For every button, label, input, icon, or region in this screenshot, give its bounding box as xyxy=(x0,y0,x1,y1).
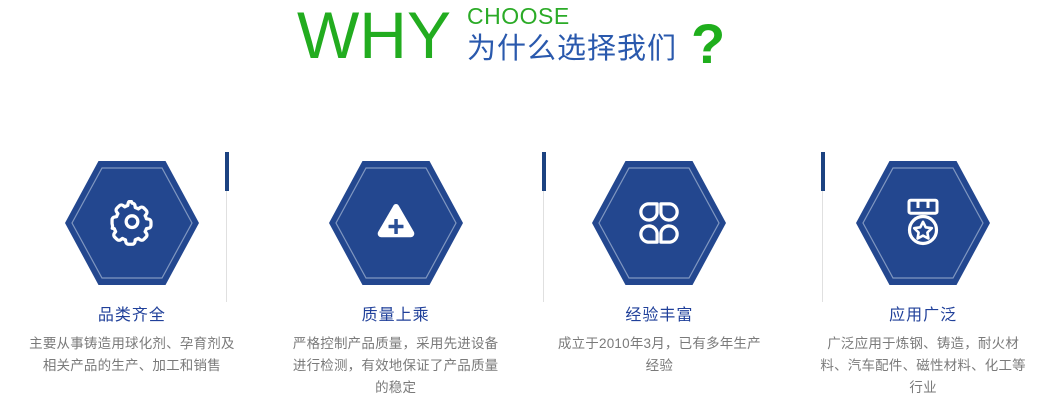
divider-accent xyxy=(821,152,825,191)
card-description: 广泛应用于炼钢、铸造，耐火材料、汽车配件、磁性材料、化工等行业 xyxy=(816,333,1031,399)
hexagon-badge xyxy=(592,156,726,290)
heading-chinese-title: 为什么选择我们 xyxy=(467,32,677,66)
card-divider xyxy=(225,152,229,302)
feature-card-row: 品类齐全 主要从事铸造用球化剂、孕育剂及相关产品的生产、加工和销售 质量上乘 xyxy=(0,150,1055,416)
card-title: 质量上乘 xyxy=(362,306,430,326)
feature-card[interactable]: 应用广泛 广泛应用于炼钢、铸造，耐火材料、汽车配件、磁性材料、化工等行业 xyxy=(791,150,1055,416)
divider-accent xyxy=(542,152,546,191)
card-description: 成立于2010年3月，已有多年生产经验 xyxy=(552,333,767,377)
hexagon-badge xyxy=(65,156,199,290)
divider-line xyxy=(822,191,823,302)
medal-icon xyxy=(898,198,948,248)
heading-choose: CHOOSE xyxy=(467,4,677,29)
divider-line xyxy=(226,191,227,302)
divider-accent xyxy=(225,152,229,191)
why-choose-us-section: WHY CHOOSE 为什么选择我们 ? xyxy=(0,0,1055,416)
hexagon-badge xyxy=(856,156,990,290)
card-divider xyxy=(821,152,825,302)
triangle-plus-icon xyxy=(371,198,421,248)
divider-line xyxy=(543,191,544,302)
feature-card[interactable]: 质量上乘 严格控制产品质量，采用先进设备进行检测，有效地保证了产品质量的稳定 xyxy=(264,150,528,416)
card-title: 应用广泛 xyxy=(889,306,957,326)
section-heading: WHY CHOOSE 为什么选择我们 ? xyxy=(0,0,1055,92)
hexagon-badge xyxy=(329,156,463,290)
heading-inner: WHY CHOOSE 为什么选择我们 ? xyxy=(297,2,725,72)
feature-card[interactable]: 经验丰富 成立于2010年3月，已有多年生产经验 xyxy=(528,150,792,416)
card-description: 严格控制产品质量，采用先进设备进行检测，有效地保证了产品质量的稳定 xyxy=(288,333,503,399)
heading-why: WHY xyxy=(297,2,451,68)
card-title: 经验丰富 xyxy=(625,306,693,326)
card-title: 品类齐全 xyxy=(98,306,166,326)
card-divider xyxy=(542,152,546,302)
card-description: 主要从事铸造用球化剂、孕育剂及相关产品的生产、加工和销售 xyxy=(24,333,239,377)
gear-icon xyxy=(107,198,157,248)
clover-icon xyxy=(634,198,684,248)
question-mark-icon: ? xyxy=(691,16,725,72)
heading-text-stack: CHOOSE 为什么选择我们 xyxy=(467,2,677,66)
